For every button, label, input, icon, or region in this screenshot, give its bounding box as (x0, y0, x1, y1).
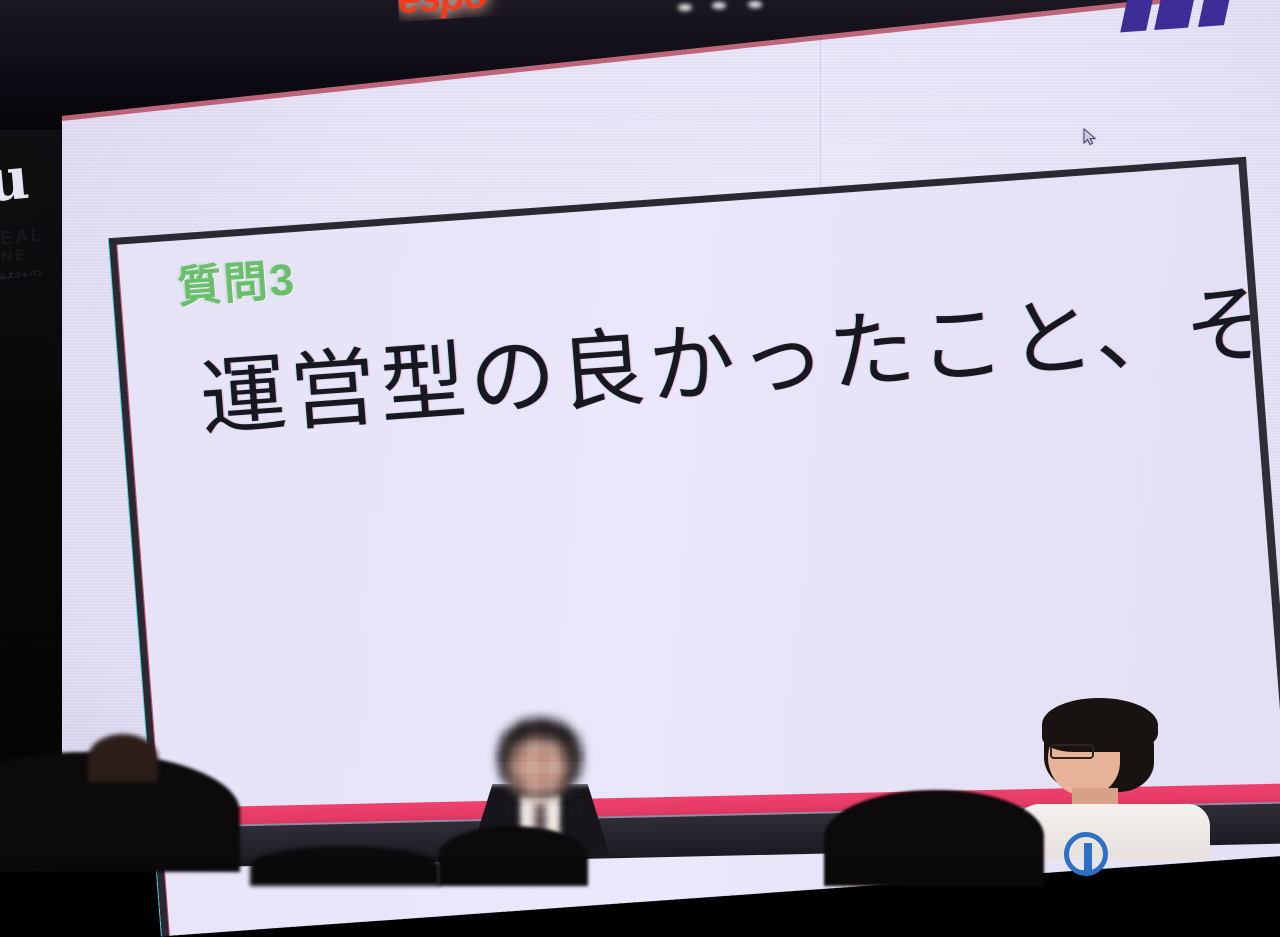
glasses-icon (1050, 744, 1094, 759)
audience-head-3 (824, 790, 1044, 886)
audience-head-2 (438, 826, 588, 886)
speaker-left-privacy-mosaic (494, 718, 586, 828)
unreal-engine-logo-icon (0, 133, 56, 229)
tshirt-logo-icon (1064, 832, 1108, 876)
speaker-right (1020, 700, 1200, 856)
question-label: 質問3 (176, 258, 298, 310)
audience-head-4 (250, 846, 440, 886)
mouse-pointer-icon (1083, 128, 1097, 146)
audience-head-1-highlight (88, 734, 158, 782)
slide-headline: 運営型の良かったこと、その魅力 (197, 255, 1280, 450)
